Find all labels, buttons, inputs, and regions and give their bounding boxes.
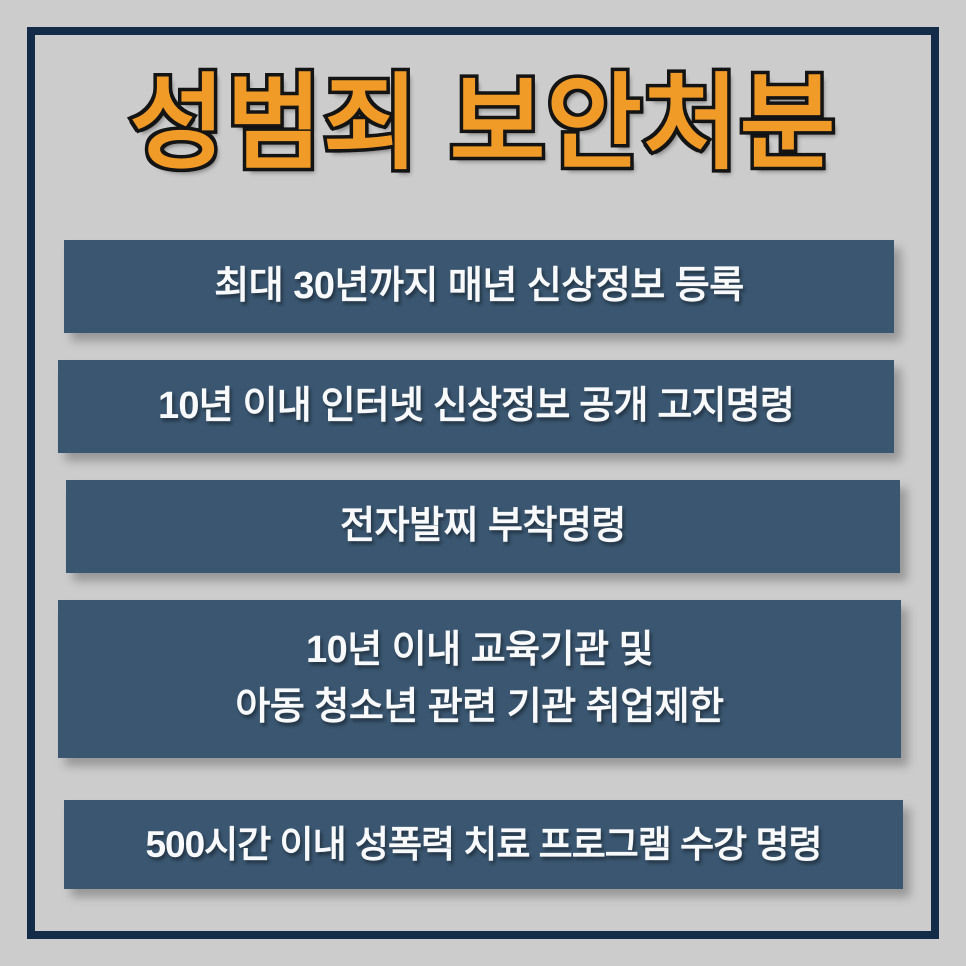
poster-canvas: 성범죄 보안처분 최대 30년까지 매년 신상정보 등록 10년 이내 인터넷 … [0,0,966,966]
list-item-label: 전자발찌 부착명령 [340,501,626,552]
list-item-disclosure-notice: 10년 이내 인터넷 신상정보 공개 고지명령 [58,360,894,453]
list-item-treatment-program: 500시간 이내 성폭력 치료 프로그램 수강 명령 [64,800,903,889]
list-item-label: 최대 30년까지 매년 신상정보 등록 [214,261,743,312]
list-item-employment-restriction: 10년 이내 교육기관 및 아동 청소년 관련 기관 취업제한 [58,600,901,758]
measures-list: 최대 30년까지 매년 신상정보 등록 10년 이내 인터넷 신상정보 공개 고… [0,0,966,966]
list-item-electronic-anklet: 전자발찌 부착명령 [66,480,900,573]
list-item-label: 10년 이내 인터넷 신상정보 공개 고지명령 [158,381,794,432]
list-item-registration: 최대 30년까지 매년 신상정보 등록 [64,240,894,333]
list-item-label: 500시간 이내 성폭력 치료 프로그램 수강 명령 [145,820,821,870]
list-item-label: 10년 이내 교육기관 및 아동 청소년 관련 기관 취업제한 [235,622,723,736]
